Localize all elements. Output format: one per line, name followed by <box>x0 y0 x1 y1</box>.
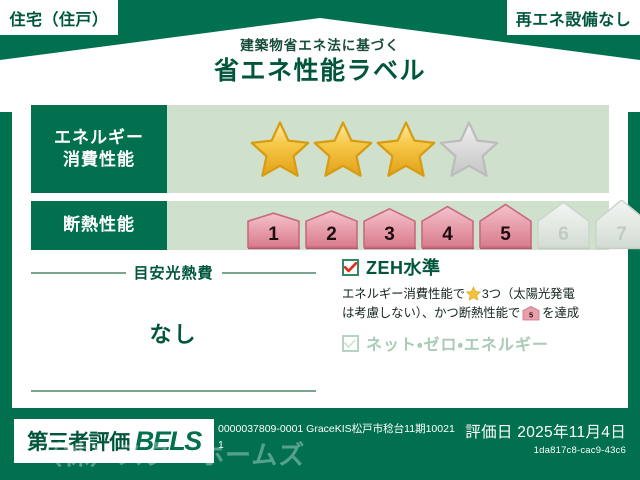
energy-label-line1: エネルギー <box>54 127 144 149</box>
svg-text:3: 3 <box>384 225 395 246</box>
energy-performance-row: エネルギー 消費性能 <box>31 105 609 193</box>
star-filled-icon <box>312 119 374 179</box>
svg-text:4: 4 <box>442 225 453 246</box>
energy-performance-value <box>167 105 609 193</box>
star-filled-icon <box>249 119 311 179</box>
certificate-id: 0000037809-0001 GraceKIS松戸市稔台11期100211 <box>218 422 458 454</box>
insulation-house-filled: 2 <box>303 200 360 250</box>
evaluation-date-value: 2025年11月4日 <box>517 424 626 441</box>
energy-performance-label: 住宅（住戸） 再エネ設備なし 建築物省エネ法に基づく 省エネ性能ラベル エネルギ… <box>0 0 640 480</box>
svg-text:6: 6 <box>558 225 569 246</box>
heading-rule-left <box>31 272 126 274</box>
net-zero-energy-label: ネット・ゼロ・エネルギー <box>366 331 549 355</box>
insulation-house-empty: 6 <box>535 200 592 250</box>
net-zero-checkbox <box>342 335 359 352</box>
evaluation-uuid: 1da817c8-cac9-43c6 <box>465 445 626 456</box>
svg-text:1: 1 <box>268 225 279 246</box>
building-type-tag: 住宅（住戸） <box>0 0 118 35</box>
energy-performance-label: エネルギー 消費性能 <box>31 105 167 193</box>
zeh-pane: ZEH水準 エネルギー消費性能で3つ（太陽光発電は考慮しない）、かつ断熱性能で5… <box>342 254 614 396</box>
zeh-heading: ZEH水準 <box>342 254 614 280</box>
bels-japanese-label: 第三者評価 <box>27 426 130 456</box>
star-empty-icon <box>438 119 500 179</box>
bels-logo-text: BELS <box>135 426 201 457</box>
zeh-desc-part1: エネルギー消費性能で <box>342 287 465 301</box>
svg-text:5: 5 <box>529 311 533 320</box>
evaluation-info: 評価日 2025年11月4日 1da817c8-cac9-43c6 <box>465 420 626 456</box>
inline-house-badge-icon: 5 <box>522 306 540 321</box>
svg-text:7: 7 <box>616 225 627 246</box>
insulation-house-empty: 7 <box>593 200 640 250</box>
insulation-performance-value: 1234567 <box>167 201 640 250</box>
utility-cost-heading: 目安光熱費 <box>31 262 316 283</box>
heading-rule-right <box>222 272 317 274</box>
bels-badge: 第三者評価 BELS <box>14 419 214 463</box>
utility-cost-value: なし <box>31 317 316 349</box>
utility-cost-bottom-rule <box>31 390 316 392</box>
insulation-house-filled: 5 <box>477 200 534 250</box>
evaluation-date: 評価日 2025年11月4日 <box>465 420 626 442</box>
insulation-house-filled: 3 <box>361 200 418 250</box>
insulation-performance-row: 断熱性能 1234567 <box>31 201 609 250</box>
svg-text:2: 2 <box>326 225 337 246</box>
header-subtitle: 建築物省エネ法に基づく <box>0 38 640 54</box>
energy-label-line2: 消費性能 <box>63 149 135 171</box>
zeh-desc-star-count: 3つ（太陽光発電 <box>482 287 575 301</box>
insulation-level-scale: 1234567 <box>245 200 640 250</box>
insulation-house-filled: 4 <box>419 200 476 250</box>
zeh-description: エネルギー消費性能で3つ（太陽光発電は考慮しない）、かつ断熱性能で5を達成 <box>342 285 614 323</box>
svg-text:5: 5 <box>500 225 511 246</box>
evaluation-date-label: 評価日 <box>465 424 512 441</box>
label-footer: 第三者評価 BELS 0000037809-0001 GraceKIS松戸市稔台… <box>0 408 640 480</box>
zeh-title: ZEH水準 <box>366 254 441 280</box>
net-zero-energy-row: ネット・ゼロ・エネルギー <box>342 331 614 355</box>
label-card: エネルギー 消費性能 断熱性能 1234567 目安光熱費 なし <box>12 96 628 408</box>
zeh-checkbox <box>342 259 359 276</box>
zeh-desc-part3: を達成 <box>542 306 579 320</box>
page-title: 省エネ性能ラベル <box>0 56 640 87</box>
zeh-desc-part2: は考慮しない）、かつ断熱性能で <box>342 306 520 320</box>
header-title-block: 建築物省エネ法に基づく 省エネ性能ラベル <box>0 38 640 87</box>
renewable-equipment-tag: 再エネ設備なし <box>507 0 640 35</box>
inline-star-icon <box>466 286 481 301</box>
utility-cost-title: 目安光熱費 <box>134 262 214 283</box>
insulation-house-filled: 1 <box>245 200 302 250</box>
star-filled-icon <box>375 119 437 179</box>
star-rating <box>249 119 500 179</box>
utility-cost-pane: 目安光熱費 なし <box>31 258 316 398</box>
insulation-label-text: 断熱性能 <box>63 214 135 236</box>
insulation-performance-label: 断熱性能 <box>31 201 167 250</box>
